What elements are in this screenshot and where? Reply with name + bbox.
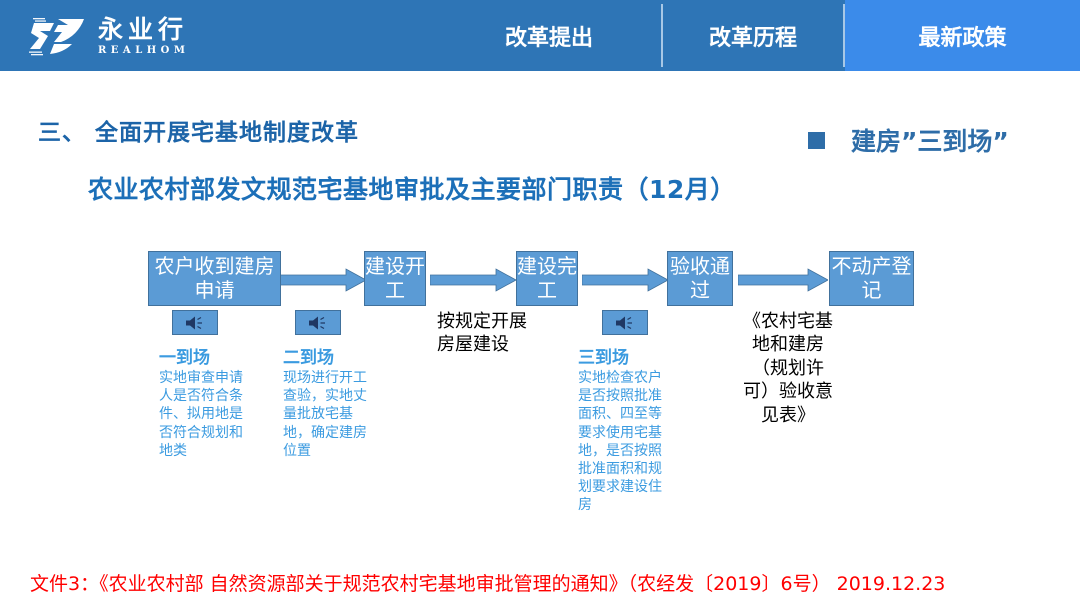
speaker-icon bbox=[614, 315, 636, 331]
caption-heading-3: 三到场 bbox=[578, 343, 674, 368]
caption-block-2: 二到场 现场进行开工查验，实地丈量批放宅基地，确定建房位置 bbox=[283, 343, 379, 460]
speaker-button-3[interactable] bbox=[602, 310, 648, 335]
flow-node-3[interactable]: 建设完工 bbox=[516, 251, 578, 306]
flow-arrow-4 bbox=[738, 268, 828, 292]
flow-node-2[interactable]: 建设开工 bbox=[364, 251, 426, 306]
speaker-icon bbox=[184, 315, 206, 331]
speaker-icon bbox=[307, 315, 329, 331]
note-construction: 按规定开展房屋建设 bbox=[437, 310, 527, 357]
flow-node-4[interactable]: 验收通过 bbox=[667, 251, 733, 306]
caption-heading-1: 一到场 bbox=[159, 343, 255, 368]
process-flowchart: 农户收到建房申请 建设开工 建设完工 验收通过 不动产登记 一到场 实地审查申请… bbox=[0, 0, 1080, 608]
note-acceptance-form: 《农村宅基地和建房（规划许可）验收意见表》 bbox=[740, 310, 836, 427]
caption-body-1: 实地审查申请人是否符合条件、拟用地是否符合规划和地类 bbox=[159, 369, 255, 460]
caption-body-3: 实地检查农户是否按照批准面积、四至等要求使用宅基地，是否按照批准面积和规划要求建… bbox=[578, 369, 674, 515]
flow-arrow-3 bbox=[582, 268, 668, 292]
flow-arrow-1 bbox=[280, 268, 366, 292]
speaker-button-1[interactable] bbox=[172, 310, 218, 335]
flow-node-5[interactable]: 不动产登记 bbox=[829, 251, 914, 306]
footer-source-note: 文件3：《农业农村部 自然资源部关于规范农村宅基地审批管理的通知》（农经发〔20… bbox=[30, 569, 945, 596]
flow-arrow-2 bbox=[430, 268, 516, 292]
flow-node-1[interactable]: 农户收到建房申请 bbox=[148, 251, 281, 306]
caption-body-2: 现场进行开工查验，实地丈量批放宅基地，确定建房位置 bbox=[283, 369, 379, 460]
caption-heading-2: 二到场 bbox=[283, 343, 379, 368]
caption-block-3: 三到场 实地检查农户是否按照批准面积、四至等要求使用宅基地，是否按照批准面积和规… bbox=[578, 343, 674, 515]
caption-block-1: 一到场 实地审查申请人是否符合条件、拟用地是否符合规划和地类 bbox=[159, 343, 255, 460]
speaker-button-2[interactable] bbox=[295, 310, 341, 335]
